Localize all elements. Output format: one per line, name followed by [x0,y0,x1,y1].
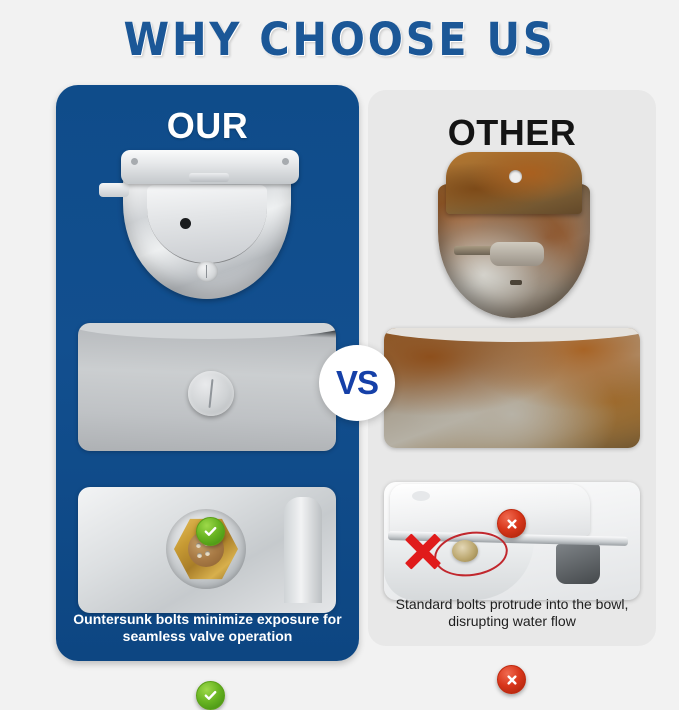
page-title: WHY CHOOSE US [27,14,652,66]
bolt-marking-dot [197,553,202,558]
protruding-bolt-closeup-image [384,482,640,600]
bowl-shadow-area [556,544,600,584]
bowl-drain-plug [196,261,218,282]
vs-label: VS [336,364,378,402]
bolt-marking-dot [205,551,210,556]
check-badge [196,517,225,546]
bowl-lid-clip [189,173,229,182]
protruding-bolt-caption: Standard bolts protrude into the bowl, d… [368,596,656,630]
bowl-body-shape [123,173,291,299]
other-panel: OTHER Without Drain Plug Standard bolts [368,90,656,646]
countersunk-bolt-caption: Ountersunk bolts minimize exposure for s… [56,611,359,645]
drain-plug-closeup-image [78,323,336,451]
bowl-valve-hole [180,218,191,229]
bolt-marking-dot [196,543,201,548]
cross-badge [497,509,526,538]
rusty-bowl-lid-hole [509,170,522,183]
rusty-water-bowl-image [416,150,612,325]
rusty-bowl-lid [446,152,582,214]
bowl-spout [99,183,129,197]
cross-badge [497,665,526,694]
stainless-steel-water-bowl-image [81,143,333,311]
other-panel-heading: OTHER [368,112,656,154]
rusted-surface-closeup-image [384,328,640,448]
countersunk-bolt-closeup-image [78,487,336,613]
check-badge [196,681,225,710]
bowl-lid-shape [390,484,590,536]
bowl-inner-shape [147,185,267,264]
red-x-annotation [402,530,444,572]
drain-plug-shape [188,371,234,416]
vs-badge: VS [319,345,395,421]
our-panel-heading: OUR [56,105,359,147]
bowl-side-wall [284,497,322,603]
rusty-bowl-valve [490,242,544,266]
protruding-bolt-head [452,540,478,562]
our-panel: OUR With Drain Plug Ountersun [56,85,359,661]
rusty-bowl-slot [510,280,522,285]
